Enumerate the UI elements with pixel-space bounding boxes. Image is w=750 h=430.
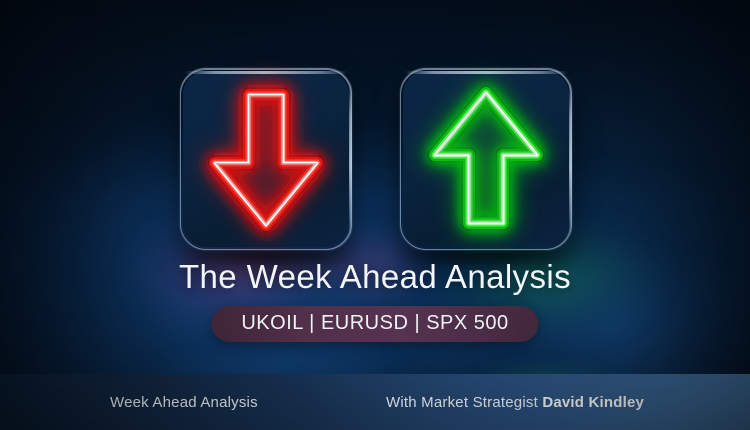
bullish-neon-panel[interactable] — [400, 68, 572, 250]
down-arrow-neon-icon — [180, 68, 352, 250]
footer-series-label: Week Ahead Analysis — [110, 394, 258, 411]
presenter-name: David Kindley — [542, 394, 644, 411]
background-left-shade — [0, 0, 180, 430]
footer-presenter: With Market Strategist David Kindley — [386, 394, 644, 411]
bearish-neon-panel[interactable] — [180, 68, 352, 250]
instruments-badge: UKOIL | EURUSD | SPX 500 — [211, 306, 538, 342]
page-title: The Week Ahead Analysis — [0, 258, 750, 296]
up-arrow-neon-icon — [400, 68, 572, 250]
footer-presenter-prefix: With Market Strategist — [386, 394, 542, 411]
background-right-shade — [615, 0, 750, 430]
promo-banner: The Week Ahead Analysis UKOIL | EURUSD |… — [0, 0, 750, 430]
footer-bar: Week Ahead Analysis With Market Strategi… — [0, 374, 750, 430]
